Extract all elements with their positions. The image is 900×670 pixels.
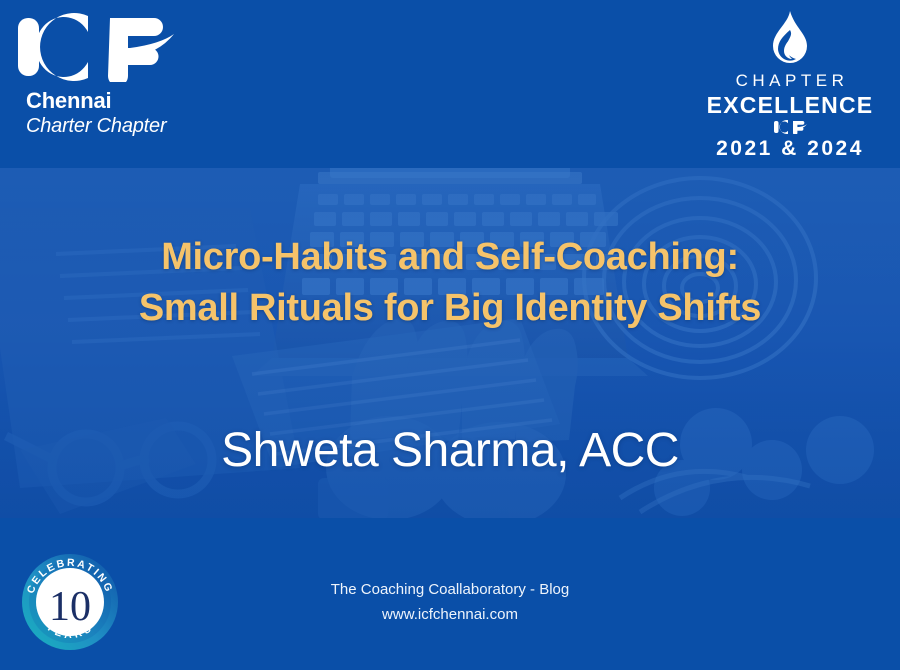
icf-logo-mark-icon (14, 12, 174, 80)
svg-text:10: 10 (49, 584, 91, 630)
event-announcement-slide: Chennai Charter Chapter CHAPTER EXCELLEN… (0, 0, 900, 670)
title-line-2: Small Rituals for Big Identity Shifts (0, 283, 900, 334)
badge-line-excellence: EXCELLENCE (690, 92, 890, 118)
blog-name: The Coaching Coallaboratory - Blog (180, 578, 720, 603)
header-bar: Chennai Charter Chapter CHAPTER EXCELLEN… (0, 0, 900, 168)
badge-line-chapter: CHAPTER (690, 72, 890, 89)
chapter-name: Chennai (26, 90, 111, 112)
chapter-type: Charter Chapter (26, 116, 166, 136)
chapter-excellence-award-badge: CHAPTER EXCELLENCE 2021 & 2024 (690, 8, 890, 156)
icf-chennai-logo: Chennai Charter Chapter (14, 12, 214, 142)
footer-bar: The Coaching Coallaboratory - Blog www.i… (0, 518, 900, 670)
badge-icf-wordmark-icon (690, 119, 890, 134)
footer-credits: The Coaching Coallaboratory - Blog www.i… (180, 578, 720, 628)
title-line-1: Micro-Habits and Self-Coaching: (0, 232, 900, 283)
session-title: Micro-Habits and Self-Coaching: Small Ri… (0, 232, 900, 333)
anniversary-seal-icon: 10 CELEBRATING YEARS (14, 546, 126, 658)
website-url[interactable]: www.icfchennai.com (180, 603, 720, 628)
badge-award-years: 2021 & 2024 (690, 138, 890, 159)
flame-icon (690, 8, 890, 70)
speaker-name: Shweta Sharma, ACC (0, 425, 900, 478)
